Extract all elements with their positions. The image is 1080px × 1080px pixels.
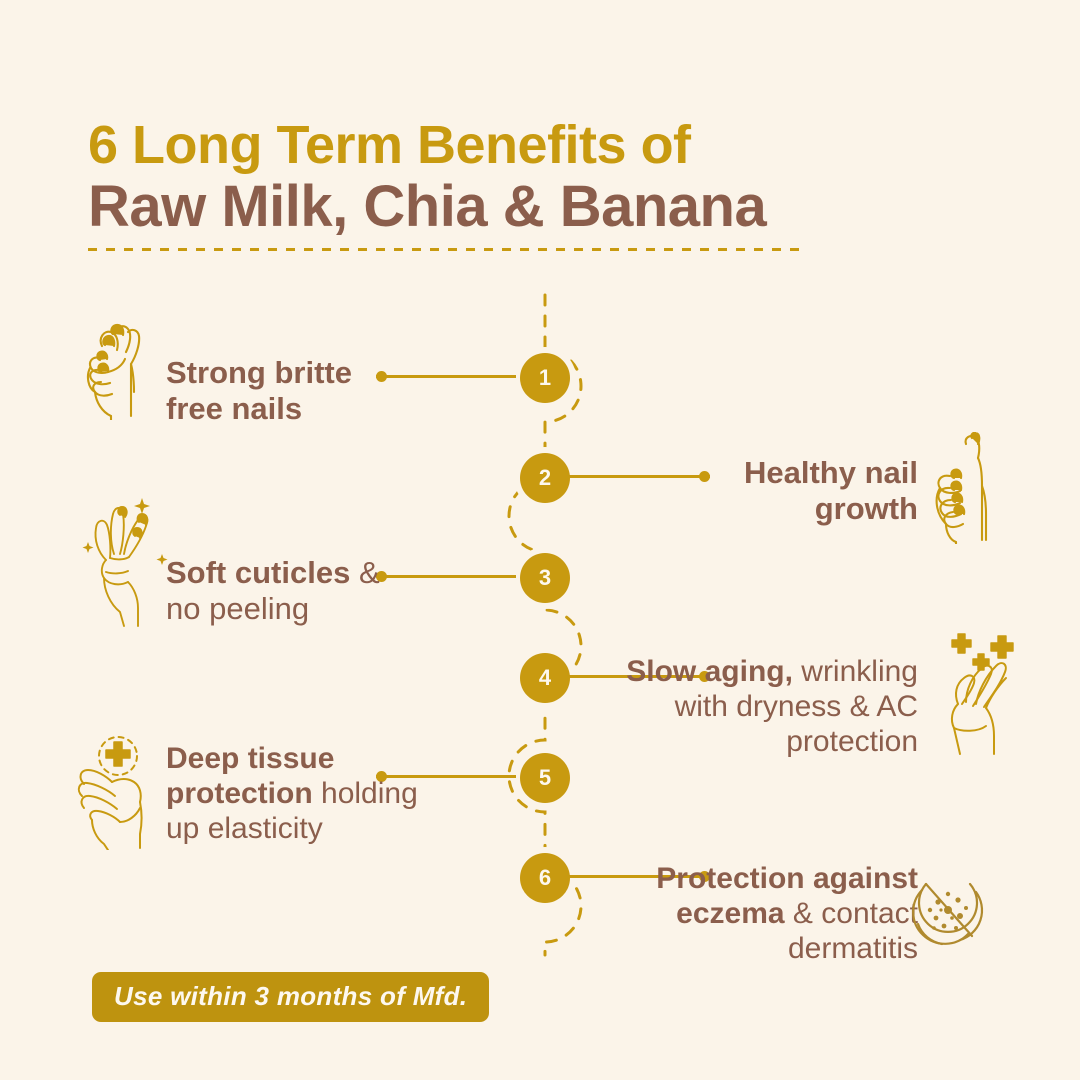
timeline-node-1[interactable]: 1 (514, 347, 576, 409)
benefit-item-6: Protection against eczema & contact derm… (596, 862, 918, 966)
hand-curled-nails-icon (78, 312, 156, 420)
node-number-label: 3 (520, 553, 570, 603)
connector-line-2 (564, 475, 710, 478)
benefit-bold-text: Soft cuticles (166, 555, 350, 590)
connector-line-3 (376, 575, 516, 578)
benefit-item-1: Strong britte free nails (166, 355, 371, 427)
hand-holding-cross-icon (70, 728, 162, 850)
connector-dot (376, 371, 387, 382)
timeline-node-4[interactable]: 4 (514, 647, 576, 709)
benefit-bold-text: Strong britte (166, 355, 352, 390)
benefit-text-3: Soft cuticles & no peeling (166, 555, 381, 627)
node-number-label: 4 (520, 653, 570, 703)
benefit-item-4: Slow aging, wrinkling with dryness & AC … (596, 655, 918, 759)
timeline-node-3[interactable]: 3 (514, 547, 576, 609)
title-line-1: 6 Long Term Benefits of (88, 118, 828, 173)
node-number-label: 2 (520, 453, 570, 503)
title-dashed-underline (88, 248, 800, 251)
hand-crosses-icon (928, 628, 1026, 756)
node-number-label: 5 (520, 753, 570, 803)
connector-line-1 (376, 375, 516, 378)
benefit-regular-text: growth (815, 491, 918, 526)
benefit-regular-text: & contact dermatitis (788, 897, 918, 965)
title-line-2: Raw Milk, Chia & Banana (88, 177, 828, 236)
benefit-text-5: Deep tissue protection holding up elasti… (166, 742, 441, 846)
no-bacteria-icon (908, 872, 988, 950)
benefit-item-5: Deep tissue protection holding up elasti… (166, 742, 441, 846)
benefit-item-3: Soft cuticles & no peeling (166, 555, 381, 627)
footer-badge-label: Use within 3 months of Mfd. (114, 983, 467, 1009)
elegant-hand-sparkle-icon (76, 492, 176, 627)
footer-badge: Use within 3 months of Mfd. (92, 972, 489, 1022)
page-title: 6 Long Term Benefits of Raw Milk, Chia &… (88, 118, 828, 251)
node-number-label: 1 (520, 353, 570, 403)
benefit-text-2: Healthy nail growth (690, 455, 918, 527)
benefit-text-4: Slow aging, wrinkling with dryness & AC … (596, 655, 918, 759)
benefit-regular-text: free nails (166, 391, 302, 426)
timeline-node-6[interactable]: 6 (514, 847, 576, 909)
benefit-bold-text: Slow aging, (626, 655, 793, 688)
benefit-bold-text: Healthy nail (744, 455, 918, 490)
benefit-bold-text: Deep tissue protection (166, 742, 334, 810)
timeline-node-2[interactable]: 2 (514, 447, 576, 509)
fist-nails-icon (928, 432, 1008, 544)
node-number-label: 6 (520, 853, 570, 903)
benefit-item-2: Healthy nail growth (690, 455, 918, 527)
benefit-text-6: Protection against eczema & contact derm… (596, 862, 918, 966)
timeline-node-5[interactable]: 5 (514, 747, 576, 809)
benefit-text-1: Strong britte free nails (166, 355, 371, 427)
